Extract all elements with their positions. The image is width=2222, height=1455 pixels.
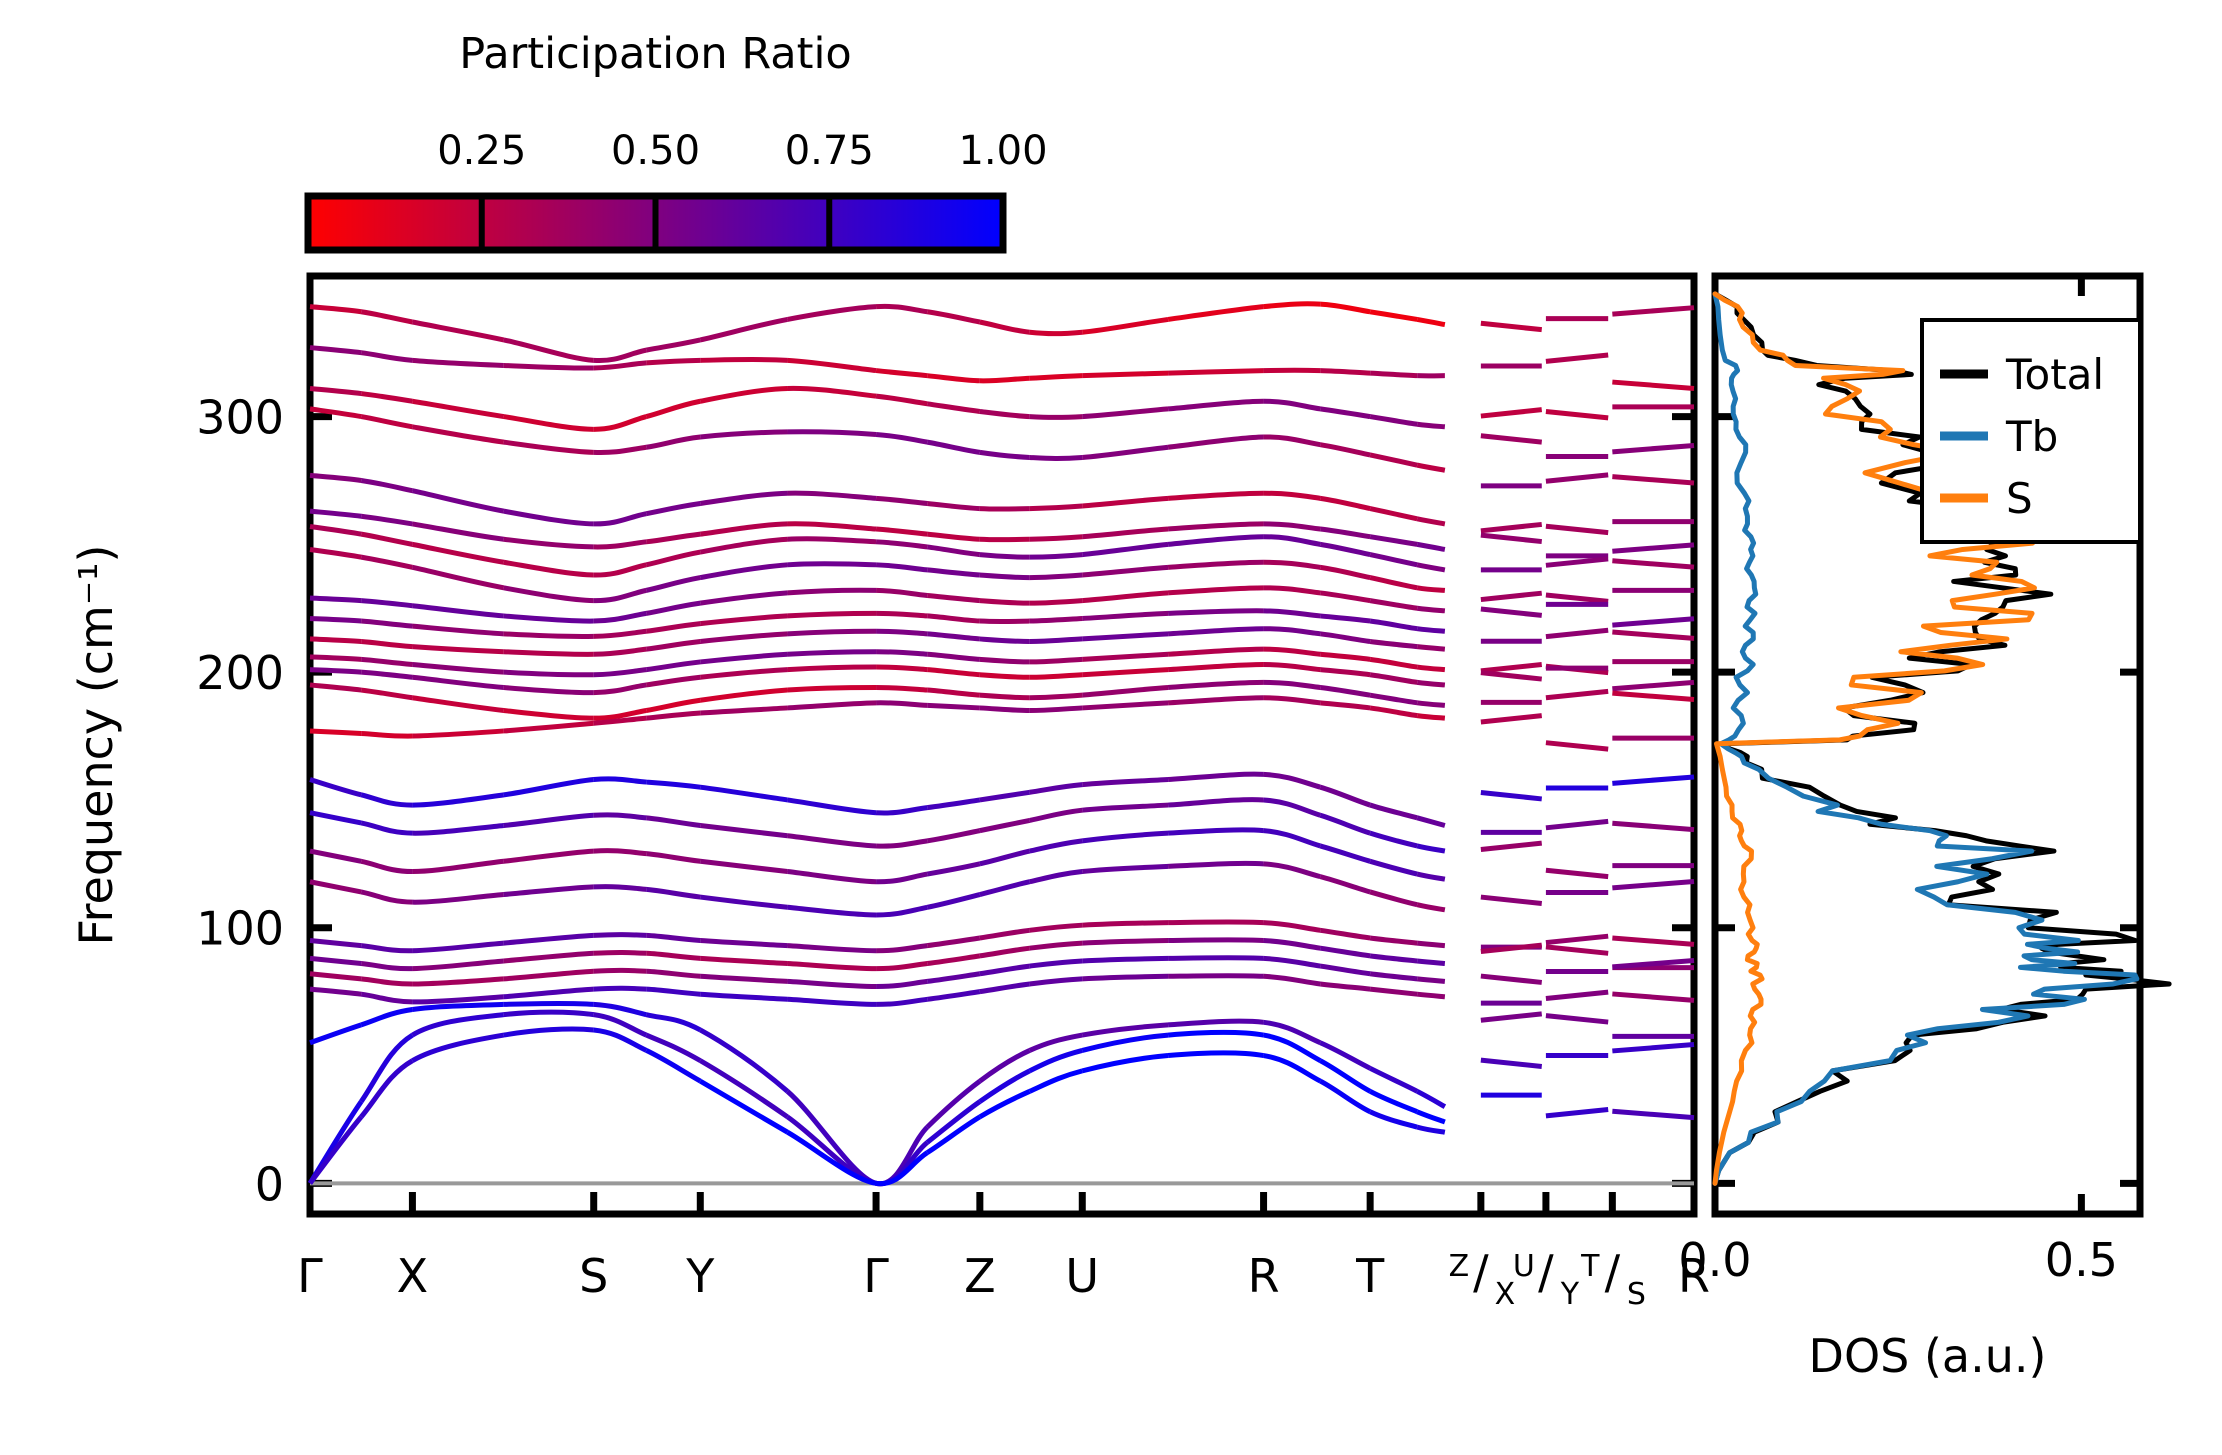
band-segment [412,567,503,587]
band-segment [980,575,1030,578]
band-segment [310,1025,361,1043]
band-segment [1264,941,1321,949]
band-segment [412,943,503,951]
band-segment [876,631,927,634]
band-segment [787,652,876,655]
band-segment [1320,409,1370,417]
band-segment [594,590,647,600]
band-segment [504,634,594,637]
band-segment [1370,892,1417,905]
band-segment [412,524,503,539]
band-segment [1320,930,1370,938]
kpoint-label: Γ [863,1249,889,1303]
band-segment [412,1015,503,1035]
dos-legend[interactable]: TotalTbS [1922,320,2140,542]
band-segment [412,677,503,687]
band-segment [1370,861,1417,874]
band-segment [504,340,594,360]
band-segment [1030,555,1083,558]
band-segment [700,670,787,678]
band-segment [310,685,361,690]
band-segment [1264,524,1321,529]
band-segment [1320,948,1370,956]
band-segment [361,690,412,698]
band-segment [787,631,876,634]
band-segment [1320,877,1370,892]
band-segment [1264,774,1321,787]
colorbar-title: Participation Ratio [459,29,852,79]
band-segment [1370,1112,1417,1127]
band-segment [1082,703,1168,708]
band-segment [1320,371,1370,374]
band-segment [594,935,647,936]
band-segment [1264,437,1321,445]
band-segment [310,670,361,673]
band-segment [1370,417,1417,425]
band-flat-segment [1481,1014,1542,1020]
band-segment [700,976,787,981]
band-segment [1082,805,1168,810]
band-segment [361,823,412,833]
band-segment [1030,457,1083,458]
band-segment [361,394,412,402]
band-segment [1030,618,1083,621]
band-segment [361,892,412,902]
band-segment [594,350,647,360]
band-segment [1082,1056,1168,1071]
band-segment [646,578,700,591]
band-segment [594,970,647,971]
band-segment [1320,966,1370,974]
band-segment [1417,424,1445,427]
band-segment [504,935,594,943]
band-segment [1264,304,1321,307]
band-segment [310,598,361,601]
band-segment [1264,698,1321,703]
band-flat-segment [1612,682,1694,688]
band-flat-segment [1612,881,1694,887]
band-segment [1168,1053,1263,1056]
band-segment [980,452,1030,457]
band-segment [787,564,876,565]
band-segment [1082,780,1168,785]
band-segment [1082,866,1168,871]
band-segment [927,547,980,555]
band-segment [361,516,412,524]
band-segment [787,388,876,396]
band-segment [980,601,1030,604]
band-segment [646,662,700,670]
band-segment [1417,703,1445,706]
band-segment [412,731,503,736]
band-flat-segment [1612,619,1694,625]
band-segment [1168,524,1263,529]
band-segment [1030,785,1083,793]
band-segment [646,713,700,718]
band-segment [504,1029,594,1035]
band-segment [1370,555,1417,565]
kpoint-label-slash: / [1473,1245,1489,1299]
band-segment [504,539,594,547]
band-segment [980,882,1030,895]
band-segment [700,493,787,503]
band-segment [594,851,647,854]
band-segment [646,552,700,565]
band-segment [927,534,980,539]
band-segment [787,703,876,708]
band-segment [1030,675,1083,678]
band-segment [1417,629,1445,632]
band-segment [980,984,1030,992]
band-segment [876,946,927,951]
kpoint-label: S [579,1249,608,1303]
band-segment [412,861,503,871]
band-segment [594,670,647,675]
band-segment [594,815,647,818]
band-segment [310,639,361,642]
band-segment [1030,841,1083,851]
band-segment [361,621,412,626]
band-segment [412,360,503,365]
band-segment [1030,601,1083,604]
band-segment [1320,687,1370,695]
band-segment [361,861,412,871]
band-flat-segment [1612,994,1694,1000]
band-segment [1417,565,1445,570]
band-segment [1030,659,1083,662]
band-segment [504,417,594,430]
band-y-tick-label: 300 [196,391,284,445]
band-flat-segment [1612,632,1694,638]
band-segment [1168,922,1263,923]
band-segment [310,731,361,734]
band-segment [594,613,647,621]
band-segment [787,907,876,915]
band-segment [980,378,1030,381]
band-segment [787,1091,876,1183]
band-segment [1168,698,1263,703]
band-y-tick-label: 0 [255,1157,284,1211]
band-segment [700,634,787,642]
band-segment [1168,940,1263,941]
band-segment [310,511,361,516]
band-segment [646,935,700,940]
band-y-axis-label: Frequency (cm⁻¹) [69,545,123,946]
band-segment [1320,304,1370,312]
band-segment [700,1030,787,1091]
band-segment [1370,641,1417,646]
band-flat-segment [1481,436,1542,442]
band-segment [361,480,412,490]
legend-label-s: S [2006,474,2033,523]
band-segment [646,534,700,542]
band-segment [361,601,412,606]
band-segment [504,780,594,795]
band-segment [787,964,876,969]
kpoint-label-numerator: Z [1449,1249,1470,1284]
colorbar: Participation Ratio0.250.500.751.00 [308,29,1048,250]
band-segment [504,815,594,825]
band-segment [876,434,927,442]
band-segment [1082,1025,1168,1035]
band-segment [787,687,876,690]
band-y-tick-label: 200 [196,646,284,700]
band-segment [700,524,787,534]
band-segment [1082,567,1168,575]
band-flat-segment [1481,535,1542,541]
colorbar-tick-label: 0.25 [437,128,526,174]
band-segment [1370,537,1417,545]
band-segment [1264,958,1321,966]
band-segment [361,417,412,427]
band-flat-segment [1612,445,1694,451]
band-flat-segment [1481,673,1542,679]
band-segment [594,565,647,575]
band-segment [927,670,980,675]
band-segment [1082,976,1168,979]
band-segment [700,388,787,401]
band-segment [927,974,980,982]
band-segment [310,1117,361,1183]
band-segment [980,792,1030,800]
band-segment [1417,818,1445,826]
band-segment [1370,601,1417,609]
band-segment [1417,319,1445,324]
band-segment [504,588,594,601]
band-segment [412,544,503,562]
band-flat-segment [1481,609,1542,615]
band-segment [1417,716,1445,719]
band-flat-segment [1481,1060,1542,1066]
band-segment [927,690,980,695]
band-segment [927,404,980,412]
band-segment [787,800,876,813]
band-segment [1082,923,1168,926]
band-flat-segment [1612,693,1694,699]
band-segment [927,312,980,322]
band-segment [646,1015,700,1030]
band-segment [1030,943,1083,948]
band-segment [412,626,503,634]
kpoint-label: T [1355,1249,1385,1303]
band-segment [1320,654,1370,659]
band-segment [1370,675,1417,683]
band-segment [700,565,787,578]
band-segment [1030,708,1083,711]
band-segment [1264,682,1321,687]
band-flat-segment [1546,1109,1608,1115]
band-segment [700,359,787,360]
band-segment [876,841,927,846]
band-flat-segment [1612,308,1694,314]
band-segment [1264,664,1321,669]
band-segment [1370,312,1417,320]
band-segment [1417,874,1445,879]
band-segment [504,672,594,675]
band-segment [927,864,980,874]
band-segment [1082,373,1168,376]
band-segment [1168,493,1263,498]
band-segment [980,695,1030,698]
band-segment [1320,846,1370,861]
band-segment [1370,509,1417,519]
band-flat-segment [1546,526,1608,532]
band-segment [700,690,787,700]
band-segment [1320,815,1370,833]
band-segment [361,994,412,1002]
band-segment [1030,1035,1083,1050]
band-segment [1417,682,1445,685]
band-segment [1082,544,1168,554]
band-segment [646,989,700,994]
band-segment [927,654,980,659]
band-segment [1264,537,1321,545]
kpoint-label-numerator: T [1580,1249,1600,1284]
band-segment [927,442,980,452]
band-segment [412,1004,503,1009]
band-segment [1082,941,1168,944]
band-segment [504,953,594,961]
kpoint-label-denominator: Y [1560,1277,1580,1312]
kpoint-label: X [397,1249,429,1303]
band-flat-segment [1546,992,1608,998]
band-segment [646,360,700,363]
band-segment [927,895,980,908]
band-segment [876,590,927,595]
band-segment [876,964,927,969]
band-segment [594,447,647,452]
band-segment [1370,578,1417,588]
band-segment [412,795,503,805]
band-segment [876,542,927,547]
band-segment [1417,667,1445,670]
band-segment [646,603,700,613]
band-segment [1264,1056,1321,1082]
band-segment [310,941,361,946]
band-segment [646,624,700,632]
band-flat-segment [1546,355,1608,361]
band-segment [927,595,980,600]
band-segment [646,503,700,513]
band-segment [980,322,1030,332]
band-segment [1168,800,1263,805]
band-segment [700,319,787,339]
band-segment [1417,846,1445,851]
band-segment [1082,319,1168,332]
band-segment [504,723,594,731]
band-segment [1264,588,1321,593]
band-flat-segment [1612,1045,1694,1051]
band-segment [1264,562,1321,567]
band-segment [700,787,787,800]
band-segment [700,897,787,907]
band-segment [876,703,927,706]
band-segment [980,659,1030,662]
band-segment [700,941,787,946]
band-segment [310,657,361,660]
band-segment [412,997,503,1002]
band-segment [787,999,876,1004]
band-segment [310,989,361,994]
band-segment [1168,976,1263,977]
band-segment [1168,401,1263,409]
band-segment [1030,810,1083,820]
band-segment [361,534,412,544]
legend-label-total: Total [2005,350,2104,399]
band-flat-segment [1481,664,1542,670]
band-segment [1264,800,1321,815]
band-segment [412,1035,503,1061]
band-segment [700,432,787,437]
band-segment [594,649,647,654]
band-segment [412,427,503,442]
band-segment [876,667,927,670]
band-segment [310,813,361,823]
band-segment [646,641,700,649]
kpoint-label: Γ [297,1249,323,1303]
band-segment [927,800,980,808]
band-segment [1030,1050,1083,1070]
band-segment [504,851,594,861]
band-segment [876,396,927,404]
band-panel: 0100200300Frequency (cm⁻¹) [69,276,1694,1214]
band-segment [1168,611,1263,614]
band-segment [412,606,503,616]
band-segment [1320,567,1370,577]
band-segment [927,376,980,381]
band-segment [504,1012,594,1015]
band-segment [1417,647,1445,650]
band-segment [927,938,980,946]
band-segment [504,652,594,655]
band-flat-segment [1546,947,1608,953]
band-segment [700,994,787,999]
band-flat-segment [1612,382,1694,388]
band-segment [700,708,787,713]
band-flat-segment [1612,477,1694,483]
band-segment [1264,864,1321,877]
band-segment [594,1004,647,1014]
band-segment [1082,613,1168,618]
band-segment [1168,629,1263,634]
band-segment [1030,925,1083,930]
band-segment [787,524,876,529]
band-segment [594,514,647,524]
band-segment [412,491,503,511]
band-segment [700,616,787,624]
dos-x-tick-label: 0.0 [1678,1233,1751,1287]
kpoint-label: R [1248,1249,1280,1303]
band-segment [1370,708,1417,716]
band-segment [1030,575,1083,578]
band-segment [504,511,594,524]
band-segment [1417,943,1445,946]
band-segment [876,498,927,503]
band-segment [1082,447,1168,457]
kpoint-label-denominator: S [1627,1277,1646,1312]
band-segment [876,981,927,986]
band-segment [1082,958,1168,961]
band-segment [1168,437,1263,447]
band-flat-segment [1546,743,1608,749]
band-segment [787,590,876,593]
band-segment [504,989,594,997]
band-flat-segment [1481,976,1542,982]
band-segment [1370,695,1417,703]
band-segment [1320,498,1370,508]
band-x-tick-labels: ΓXSYΓZURTZ/XU/YT/SR [297,1245,1710,1312]
band-y-tick-label: 100 [196,902,284,956]
